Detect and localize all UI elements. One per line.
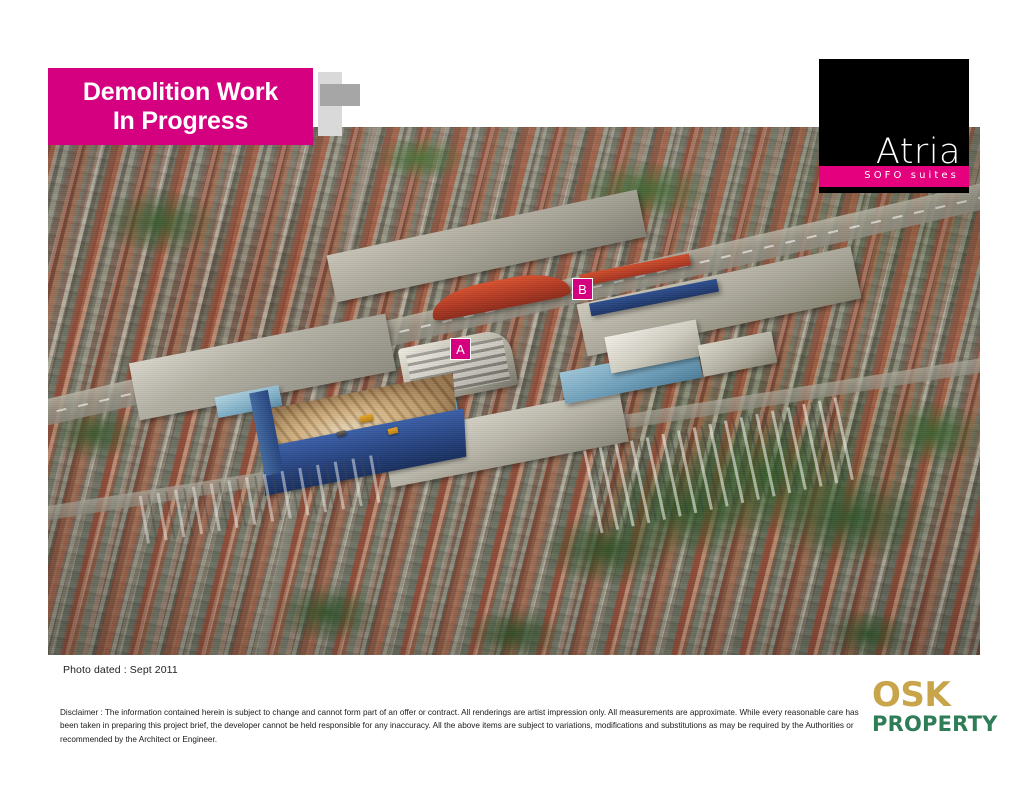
osk-logo-subtitle: PROPERTY (872, 714, 976, 735)
map-marker-a-label: A (456, 343, 465, 356)
map-marker-a[interactable]: A (450, 338, 471, 360)
osk-logo-wordmark: OSK (872, 678, 976, 712)
disclaimer-text: Disclaimer : The information contained h… (60, 706, 866, 746)
map-marker-b-label: B (578, 283, 587, 296)
status-banner-line-1: Demolition Work (83, 79, 278, 106)
map-marker-b[interactable]: B (572, 278, 593, 300)
status-banner: Demolition Work In Progress (48, 68, 313, 145)
atria-logo-tagline: SOFO suites (864, 170, 959, 181)
atria-logo-wordmark: Atria (819, 135, 961, 170)
decor-block-dark (320, 84, 360, 106)
aerial-photo-canvas: A B (48, 127, 980, 655)
osk-property-logo: OSK PROPERTY (872, 678, 976, 736)
aerial-photo: A B (48, 127, 980, 655)
atria-logo: Atria SOFO suites (819, 59, 969, 193)
photo-caption: Photo dated : Sept 2011 (63, 664, 178, 676)
status-banner-line-2: In Progress (113, 108, 248, 135)
slide-page: A B Demolition Work In Progress Atria SO… (0, 0, 1024, 788)
